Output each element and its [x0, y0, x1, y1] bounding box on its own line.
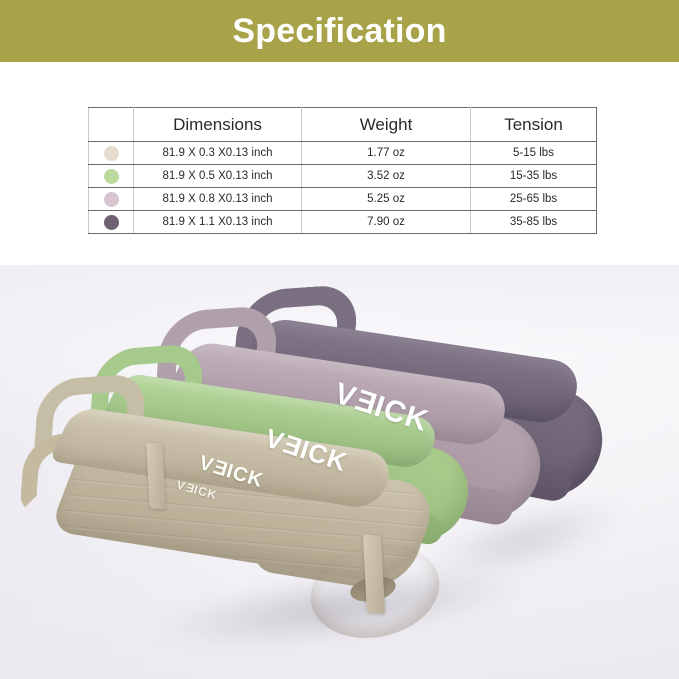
cell-weight: 3.52 oz: [302, 165, 471, 188]
swatch-cell: [89, 211, 134, 234]
swatch-green-icon: [104, 169, 119, 184]
column-header-dimensions: Dimensions: [134, 108, 302, 142]
swatch-cell: [89, 188, 134, 211]
cell-dimensions: 81.9 X 0.5 X0.13 inch: [134, 165, 302, 188]
product-photo: VEICK VEICK VEICK VEICK: [0, 265, 679, 679]
swatch-purple-icon: [104, 215, 119, 230]
table-row: 81.9 X 0.3 X0.13 inch 1.77 oz 5-15 lbs: [89, 142, 597, 165]
table-header-row: Dimensions Weight Tension: [89, 108, 597, 142]
swatch-cell: [89, 165, 134, 188]
page-title: Specification: [232, 14, 446, 48]
table-header: Dimensions Weight Tension: [89, 108, 597, 142]
specification-header-banner: Specification: [0, 0, 679, 62]
column-header-tension: Tension: [471, 108, 597, 142]
cell-weight: 5.25 oz: [302, 188, 471, 211]
table-row: 81.9 X 0.8 X0.13 inch 5.25 oz 25-65 lbs: [89, 188, 597, 211]
specification-table-container: Dimensions Weight Tension 81.9 X 0.3 X0.…: [88, 107, 596, 234]
cell-tension: 25-65 lbs: [471, 188, 597, 211]
cell-tension: 15-35 lbs: [471, 165, 597, 188]
specification-table: Dimensions Weight Tension 81.9 X 0.3 X0.…: [88, 107, 597, 234]
table-body: 81.9 X 0.3 X0.13 inch 1.77 oz 5-15 lbs 8…: [89, 142, 597, 234]
cell-dimensions: 81.9 X 0.3 X0.13 inch: [134, 142, 302, 165]
swatch-cell: [89, 142, 134, 165]
swatch-mauve-icon: [104, 192, 119, 207]
cell-weight: 7.90 oz: [302, 211, 471, 234]
column-header-weight: Weight: [302, 108, 471, 142]
cell-tension: 5-15 lbs: [471, 142, 597, 165]
table-row: 81.9 X 1.1 X0.13 inch 7.90 oz 35-85 lbs: [89, 211, 597, 234]
band-clasp-rear: [146, 442, 166, 509]
cell-tension: 35-85 lbs: [471, 211, 597, 234]
swatch-beige-icon: [104, 146, 119, 161]
resistance-band-stack: VEICK VEICK VEICK VEICK: [0, 265, 679, 679]
table-row: 81.9 X 0.5 X0.13 inch 3.52 oz 15-35 lbs: [89, 165, 597, 188]
cell-weight: 1.77 oz: [302, 142, 471, 165]
cell-dimensions: 81.9 X 0.8 X0.13 inch: [134, 188, 302, 211]
column-header-swatch: [89, 108, 134, 142]
cell-dimensions: 81.9 X 1.1 X0.13 inch: [134, 211, 302, 234]
